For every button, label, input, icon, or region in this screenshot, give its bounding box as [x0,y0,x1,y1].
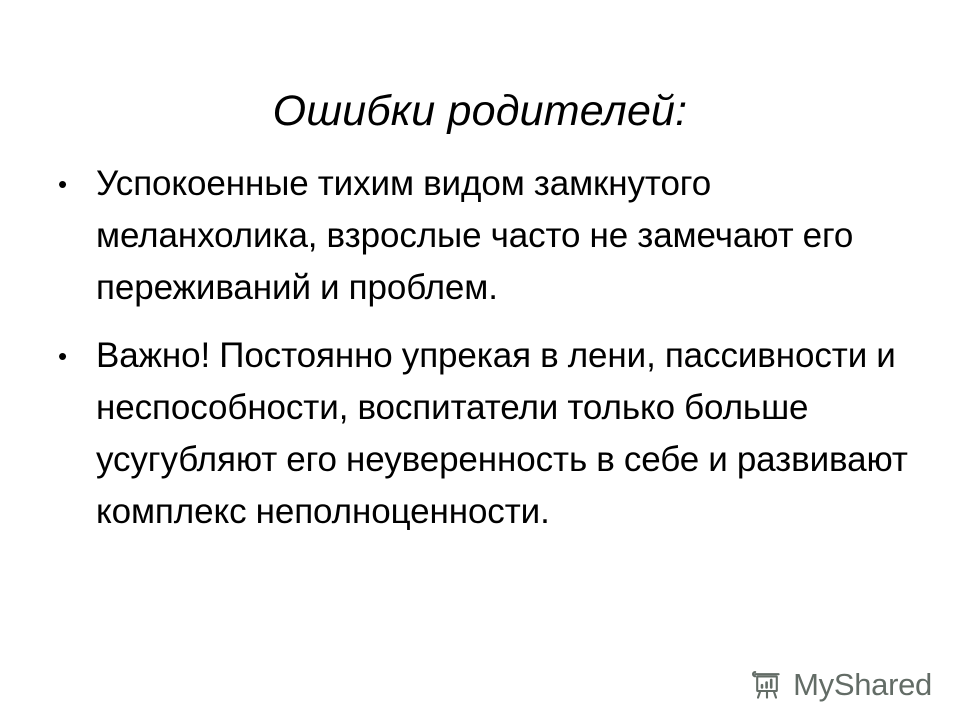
bullet-icon: • [58,330,78,382]
list-item-text: Успокоенные тихим видом замкнутого мелан… [96,164,853,307]
list-item: • Успокоенные тихим видом замкнутого мел… [50,158,910,314]
slide-body: • Успокоенные тихим видом замкнутого мел… [50,158,910,538]
bullet-icon: • [58,158,78,210]
presentation-slide: Ошибки родителей: • Успокоенные тихим ви… [0,0,960,720]
presentation-board-icon [750,668,784,702]
page-title: Ошибки родителей: [0,85,960,137]
myshared-watermark: MyShared [750,668,932,702]
myshared-label: MyShared [793,668,932,702]
list-item: • Важно! Постоянно упрекая в лени, пасси… [50,330,910,538]
list-item-text: Важно! Постоянно упрекая в лени, пассивн… [96,336,908,531]
